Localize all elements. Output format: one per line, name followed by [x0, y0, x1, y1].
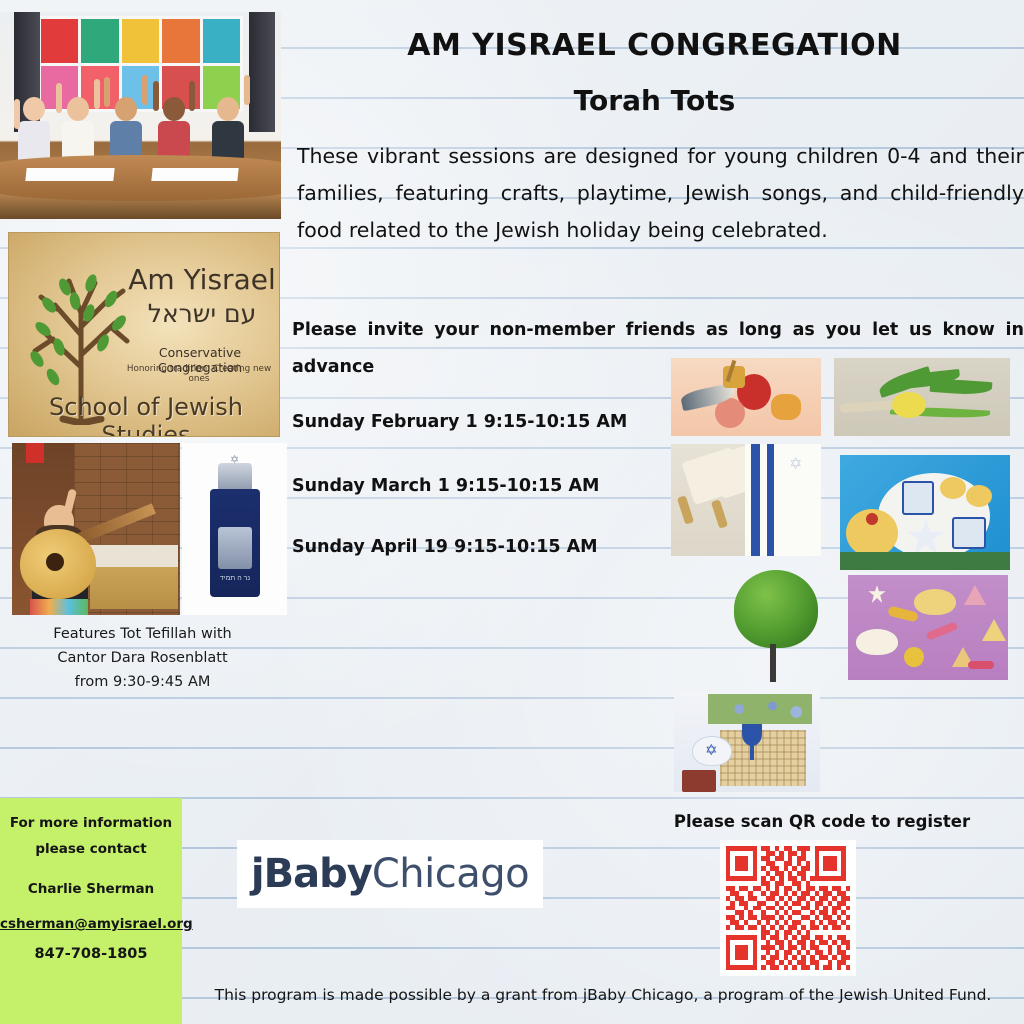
contact-heading-line-2: please contact	[0, 836, 182, 862]
jbaby-logo-bold: jBaby	[251, 851, 372, 897]
contact-email-link[interactable]: csherman@amyisrael.org	[0, 916, 182, 932]
purim-photo	[848, 575, 1008, 680]
child-figure	[110, 97, 142, 161]
star-of-david-icon: ✡	[789, 454, 802, 474]
session-date-item: Sunday March 1 9:15-10:15 AM	[292, 476, 599, 496]
torah-scroll-photo: ✡ נר ה תמיד	[182, 443, 287, 615]
star-of-david-icon: ✡	[705, 741, 718, 759]
logo-school-name: School of Jewish Studies	[15, 393, 277, 437]
logo-tagline: Honoring tradition. Creating new ones	[117, 364, 280, 384]
worksheet-paper	[25, 168, 114, 181]
child-figure	[212, 97, 244, 161]
torah-crown	[218, 463, 252, 491]
torah-inscription: נר ה תמיד	[210, 575, 260, 582]
child-figure	[158, 97, 190, 161]
child-figure	[62, 97, 94, 161]
jbaby-logo-light: Chicago	[372, 851, 529, 897]
logo-name-hebrew: עם ישראל	[127, 299, 277, 328]
page-title: AM YISRAEL CONGREGATION	[285, 28, 1024, 63]
tree-trunk	[770, 644, 776, 682]
contact-info-box: For more information please contact Char…	[0, 798, 182, 1024]
cantor-caption-line-3: from 9:30-9:45 AM	[0, 670, 285, 694]
logo-name-english: Am Yisrael	[127, 263, 277, 296]
contact-phone: 847-708-1805	[0, 946, 182, 962]
cantor-caption-line-2: Cantor Dara Rosenblatt	[0, 646, 285, 670]
worksheet-paper	[151, 168, 238, 181]
guitar-soundhole	[46, 553, 64, 571]
program-description: These vibrant sessions are designed for …	[297, 138, 1024, 249]
child-figure	[18, 97, 50, 161]
jbaby-chicago-logo: jBaby Chicago	[237, 840, 543, 908]
program-title: Torah Tots	[285, 84, 1024, 117]
cantor-caption: Features Tot Tefillah with Cantor Dara R…	[0, 622, 285, 694]
am-yisrael-logo-image: Am Yisrael עם ישראל Conservative Congreg…	[8, 232, 280, 437]
lectern	[90, 545, 178, 609]
hanukkah-cookies-photo	[840, 455, 1010, 570]
qr-caption: Please scan QR code to register	[620, 812, 1024, 831]
grant-footer-note: This program is made possible by a grant…	[182, 986, 1024, 1004]
cantor-guitar-photo	[12, 443, 180, 615]
contact-name: Charlie Sherman	[0, 876, 182, 902]
invite-note: Please invite your non-member friends as…	[292, 312, 1024, 386]
tree-icon	[734, 570, 818, 648]
cantor-caption-line-1: Features Tot Tefillah with	[0, 622, 285, 646]
torah-breastplate	[218, 527, 252, 569]
exit-sign	[26, 443, 44, 463]
simchat-torah-photo: ✡	[671, 444, 821, 556]
passover-seder-photo: ✡	[674, 692, 820, 792]
contact-heading-line-1: For more information	[0, 810, 182, 836]
tu-bishvat-tree-photo	[726, 566, 826, 686]
qr-code-matrix	[726, 846, 850, 970]
session-date-item: Sunday February 1 9:15-10:15 AM	[292, 412, 627, 432]
curtain-right	[249, 12, 275, 132]
flyer-canvas: Am Yisrael עם ישראל Conservative Congreg…	[0, 0, 1024, 1024]
qr-code-icon[interactable]	[720, 840, 856, 976]
children-classroom-photo	[0, 12, 281, 219]
session-date-item: Sunday April 19 9:15-10:15 AM	[292, 537, 598, 557]
